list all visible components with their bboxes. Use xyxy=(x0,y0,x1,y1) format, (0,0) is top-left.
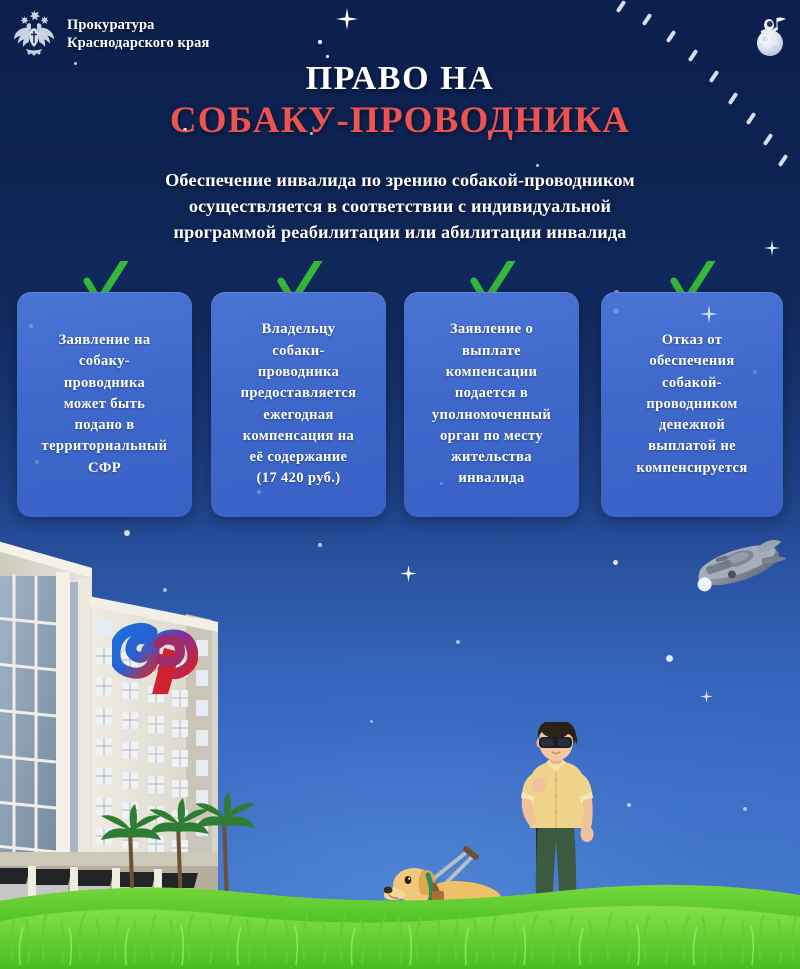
card-line: Отказ от xyxy=(636,330,747,351)
spaceship-icon xyxy=(684,528,792,600)
fact-card-2-text: Владельцу собаки- проводника предоставля… xyxy=(241,319,357,489)
card-line: Заявление на xyxy=(42,330,168,351)
poster-title: ПРАВО НА СОБАКУ-ПРОВОДНИКА xyxy=(0,60,800,143)
card-line: орган по месту xyxy=(432,426,551,447)
card-line: проводника xyxy=(241,362,357,383)
sparkle-star-icon xyxy=(400,565,417,582)
card-line: обеспечения xyxy=(636,351,747,372)
title-line-1: ПРАВО НА xyxy=(0,60,800,98)
card-line: проводника xyxy=(42,373,168,394)
subtitle-line-3: программой реабилитации или абилитации и… xyxy=(60,220,740,246)
sparkle-star-icon xyxy=(764,240,780,256)
card-line: предоставляется xyxy=(241,383,357,404)
card-line: выплатой не xyxy=(636,436,747,457)
fact-card-1-text: Заявление на собаку- проводника может бы… xyxy=(42,330,168,479)
green-grass-strip xyxy=(0,861,800,969)
sfr-monogram-logo-icon xyxy=(112,622,198,702)
card-line: проводником xyxy=(636,394,747,415)
card-line: компенсируется xyxy=(636,458,747,479)
fact-card-3-text: Заявление о выплате компенсации подается… xyxy=(432,319,551,489)
card-line: ежегодная xyxy=(241,405,357,426)
sparkle-star-icon xyxy=(336,8,358,30)
card-line: компенсация на xyxy=(241,426,357,447)
fact-card-2-box: Владельцу собаки- проводника предоставля… xyxy=(211,292,386,517)
card-line: её содержание xyxy=(241,447,357,468)
card-line: подается в xyxy=(432,383,551,404)
fact-card-1: Заявление на собаку- проводника может бы… xyxy=(17,262,192,517)
russian-prosecutor-eagle-emblem-icon xyxy=(10,8,58,60)
astronaut-on-moon-icon xyxy=(746,8,790,58)
card-line: жительства xyxy=(432,447,551,468)
infographic-poster: Прокуратура Краснодарского края ПРАВО НА… xyxy=(0,0,800,969)
card-line: может быть xyxy=(42,394,168,415)
card-line: выплате xyxy=(432,341,551,362)
fact-card-2: Владельцу собаки- проводника предоставля… xyxy=(211,262,386,517)
card-line: СФР xyxy=(42,458,168,479)
card-line: территориальный xyxy=(42,436,168,457)
fact-card-3-box: Заявление о выплате компенсации подается… xyxy=(404,292,579,517)
brand-header: Прокуратура Краснодарского края xyxy=(10,8,209,60)
sparkle-star-icon xyxy=(700,690,713,703)
card-line: Владельцу xyxy=(241,319,357,340)
fact-card-4-text: Отказ от обеспечения собакой- проводнико… xyxy=(636,330,747,479)
brand-label: Прокуратура Краснодарского края xyxy=(67,16,209,52)
card-line: уполномоченный xyxy=(432,405,551,426)
fact-card-4-box: Отказ от обеспечения собакой- проводнико… xyxy=(601,292,783,517)
brand-line-2: Краснодарского края xyxy=(67,34,209,52)
card-line: собаку- xyxy=(42,351,168,372)
fact-card-1-box: Заявление на собаку- проводника может бы… xyxy=(17,292,192,517)
card-line: компенсации xyxy=(432,362,551,383)
fact-cards-row: Заявление на собаку- проводника может бы… xyxy=(0,262,800,517)
card-line: собаки- xyxy=(241,341,357,362)
subtitle-line-2: осуществляется в соответствии с индивиду… xyxy=(60,194,740,220)
card-line: собакой- xyxy=(636,373,747,394)
fact-card-3: Заявление о выплате компенсации подается… xyxy=(404,262,579,517)
card-line: инвалида xyxy=(432,468,551,489)
title-line-2: СОБАКУ-ПРОВОДНИКА xyxy=(0,100,800,143)
card-line: денежной xyxy=(636,415,747,436)
poster-subtitle: Обеспечение инвалида по зрению собакой-п… xyxy=(60,168,740,246)
subtitle-line-1: Обеспечение инвалида по зрению собакой-п… xyxy=(60,168,740,194)
brand-line-1: Прокуратура xyxy=(67,16,209,34)
card-line: подано в xyxy=(42,415,168,436)
sunglasses xyxy=(539,737,572,748)
fact-card-4: Отказ от обеспечения собакой- проводнико… xyxy=(601,262,783,517)
card-line: (17 420 руб.) xyxy=(241,468,357,489)
card-line: Заявление о xyxy=(432,319,551,340)
